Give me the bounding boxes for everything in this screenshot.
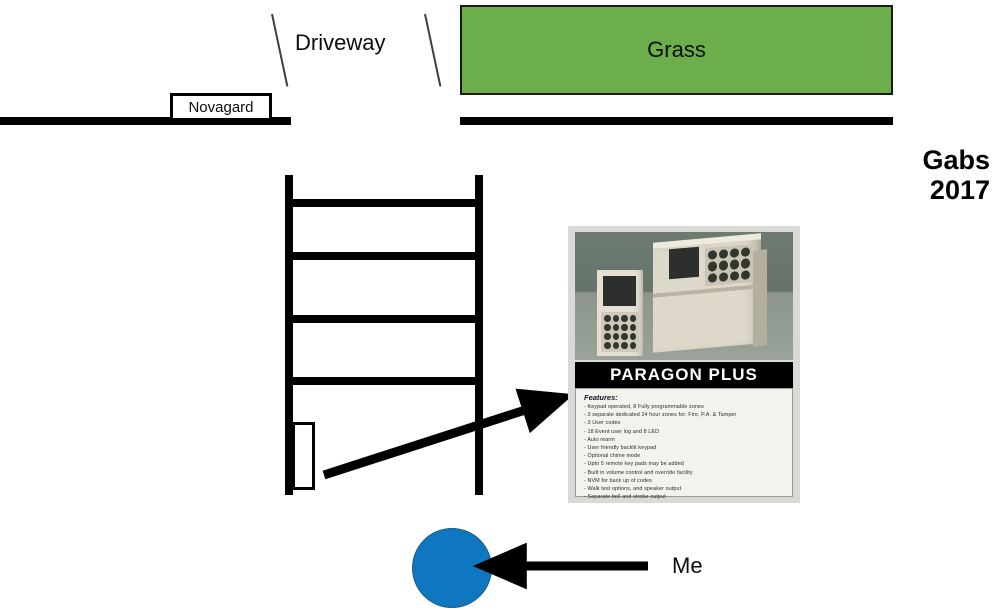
fence-structure [0, 0, 1000, 610]
arrow-to-product-icon [300, 380, 580, 500]
product-features-panel: Features: - Keypad operated, 8 Fully pro… [575, 388, 793, 497]
fence-rail-1 [285, 199, 483, 207]
features-heading: Features: [584, 393, 784, 402]
arrow-to-person-icon [480, 540, 655, 580]
product-datasheet-card: PARAGON PLUS Features: - Keypad operated… [568, 226, 800, 503]
diagram-canvas: Novagard Driveway Grass Gabs 2017 [0, 0, 1000, 610]
alarm-unit-large-keypad [705, 244, 753, 286]
novagard-label: Novagard [188, 100, 253, 115]
feature-item: - 18 Event user log and 8 LED [584, 428, 784, 436]
feature-item: - 3 User codes [584, 419, 784, 427]
feature-item: - NVM for back up of codes [584, 477, 784, 485]
feature-item: - Built in volume control and override f… [584, 469, 784, 477]
feature-item: - 3 separate dedicated 24 hour zones for… [584, 411, 784, 419]
product-title-band: PARAGON PLUS [575, 362, 793, 388]
feature-item: - User friendly backlit keypad [584, 444, 784, 452]
alarm-unit-small-keypad [601, 312, 639, 352]
product-title: PARAGON PLUS [610, 365, 758, 385]
alarm-unit-large-display [669, 247, 699, 280]
feature-item: - Optional chime mode [584, 452, 784, 460]
features-list: - Keypad operated, 8 Fully programmable … [584, 403, 784, 501]
fence-rail-2 [285, 252, 483, 260]
alarm-unit-small-display [603, 276, 636, 306]
feature-item: - Upto 5 remote key pads may be added [584, 460, 784, 468]
novagard-building-box: Novagard [170, 93, 272, 121]
feature-item: - Auto rearm [584, 436, 784, 444]
feature-item: - Separate bell and strobe output [584, 493, 784, 501]
alarm-unit-large-side [753, 249, 767, 347]
me-label: Me [672, 553, 703, 579]
product-photo [575, 232, 793, 360]
fence-rail-3 [285, 315, 483, 323]
feature-item: - Keypad operated, 8 Fully programmable … [584, 403, 784, 411]
feature-item: - Walk test options, and speaker output [584, 485, 784, 493]
